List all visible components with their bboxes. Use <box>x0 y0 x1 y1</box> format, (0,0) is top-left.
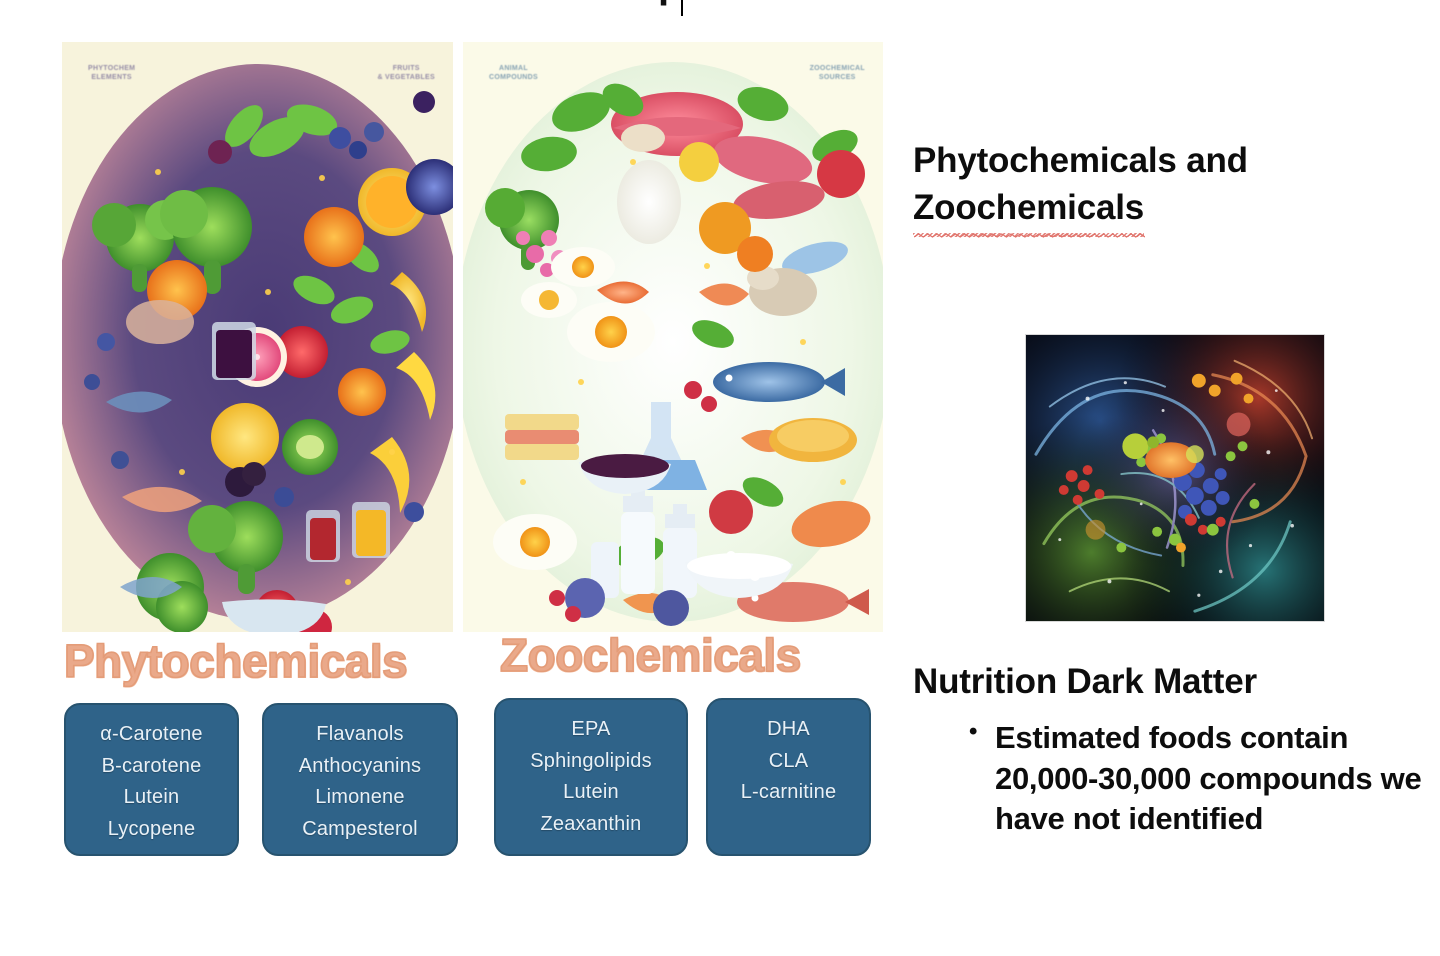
spellcheck-squiggle-icon <box>914 232 1145 239</box>
right-content-column: Phytochemicals and Zoochemicals <box>905 0 1440 956</box>
compound-item: Lutein <box>66 782 237 814</box>
compound-item: EPA <box>496 714 686 746</box>
compound-item: Zeaxanthin <box>496 809 686 841</box>
zoochemicals-poster-image: ANIMAL COMPOUNDS ZOOCHEMICAL SOURCES <box>463 42 883 632</box>
compound-item: Anthocyanins <box>264 751 456 783</box>
phytochemicals-poster-image: PHYTOCHEM ELEMENTS FRUITS & VEGETABLES <box>62 42 453 632</box>
poster-micro-label-top-right: FRUITS & VEGETABLES <box>377 64 435 83</box>
heading-line-1: Phytochemicals and <box>913 141 1248 180</box>
heading-line-2-misspelled: Zoochemicals <box>913 185 1144 232</box>
compound-item: L-carnitine <box>708 777 869 809</box>
heading-nutrition-dark-matter: Nutrition Dark Matter <box>913 662 1257 702</box>
compound-item: Campesterol <box>264 814 456 846</box>
compound-item: B-carotene <box>66 751 237 783</box>
phytochemicals-caption: Phytochemicals <box>64 634 407 688</box>
compound-item: CLA <box>708 746 869 778</box>
compound-box-zoo-2[interactable]: DHA CLA L-carnitine <box>706 698 871 856</box>
compound-box-phyto-1[interactable]: α-Carotene B-carotene Lutein Lycopene <box>64 703 239 856</box>
poster-micro-label-top-right: ZOOCHEMICAL SOURCES <box>810 64 865 83</box>
heading-phytochemicals-zoochemicals: Phytochemicals and Zoochemicals <box>913 138 1333 232</box>
compound-item: α-Carotene <box>66 719 237 751</box>
compound-item: Lutein <box>496 777 686 809</box>
compound-box-zoo-1[interactable]: EPA Sphingolipids Lutein Zeaxanthin <box>494 698 688 856</box>
compound-item: Lycopene <box>66 814 237 846</box>
bullet-item: Estimated foods contain 20,000-30,000 co… <box>965 718 1435 840</box>
compound-item: Limonene <box>264 782 456 814</box>
poster-micro-label-top-left: PHYTOCHEM ELEMENTS <box>88 64 135 83</box>
poster-micro-label-top-left: ANIMAL COMPOUNDS <box>489 64 538 83</box>
dark-matter-bullet-list: Estimated foods contain 20,000-30,000 co… <box>965 718 1435 840</box>
text-cursor <box>681 0 683 16</box>
compound-item: Sphingolipids <box>496 746 686 778</box>
zoochemicals-caption: Zoochemicals <box>500 628 801 682</box>
nutrition-dark-matter-image <box>1025 334 1325 622</box>
compound-item: DHA <box>708 714 869 746</box>
compound-item: Flavanols <box>264 719 456 751</box>
compound-box-phyto-2[interactable]: Flavanols Anthocyanins Limonene Campeste… <box>262 703 458 856</box>
heading-line-2-text: Zoochemicals <box>913 188 1144 227</box>
